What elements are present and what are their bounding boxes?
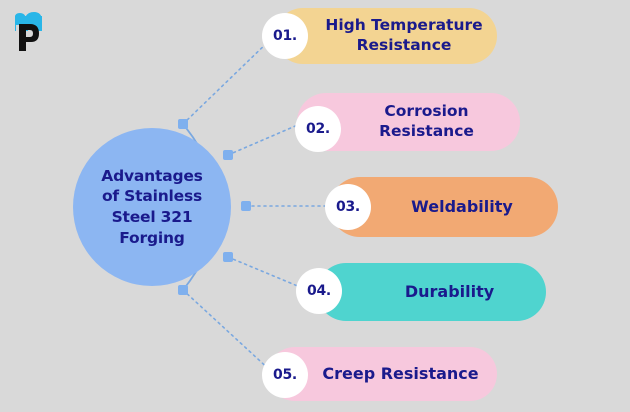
node-02	[223, 150, 233, 160]
spoke-05	[183, 290, 272, 372]
item-badge-05[interactable]: 05.	[262, 352, 308, 398]
item-pill-04[interactable]: Durability	[317, 263, 546, 321]
node-03	[241, 201, 251, 211]
spoke-01	[183, 38, 272, 124]
item-label-01: High Temperature Resistance	[311, 16, 497, 55]
item-number-04: 04.	[307, 283, 331, 299]
central-hub: Advantages of Stainless Steel 321 Forgin…	[73, 128, 231, 286]
item-badge-01[interactable]: 01.	[262, 13, 308, 59]
item-number-03: 03.	[336, 199, 360, 215]
infographic-canvas: Advantages of Stainless Steel 321 Forgin…	[0, 0, 630, 412]
item-label-03: Weldability	[366, 197, 558, 217]
spoke-04	[228, 257, 300, 287]
item-badge-04[interactable]: 04.	[296, 268, 342, 314]
item-label-05: Creep Resistance	[304, 364, 497, 384]
item-label-04: Durability	[353, 282, 546, 302]
item-pill-01[interactable]: High Temperature Resistance	[275, 8, 497, 64]
node-01	[178, 119, 188, 129]
node-04	[223, 252, 233, 262]
item-badge-02[interactable]: 02.	[295, 106, 341, 152]
item-badge-03[interactable]: 03.	[325, 184, 371, 230]
node-05	[178, 285, 188, 295]
item-label-02: Corrosion Resistance	[333, 102, 520, 141]
spoke-02	[228, 124, 300, 155]
item-number-01: 01.	[273, 28, 297, 44]
item-number-05: 05.	[273, 367, 297, 383]
item-number-02: 02.	[306, 121, 330, 137]
hub-title: Advantages of Stainless Steel 321 Forgin…	[101, 166, 202, 248]
